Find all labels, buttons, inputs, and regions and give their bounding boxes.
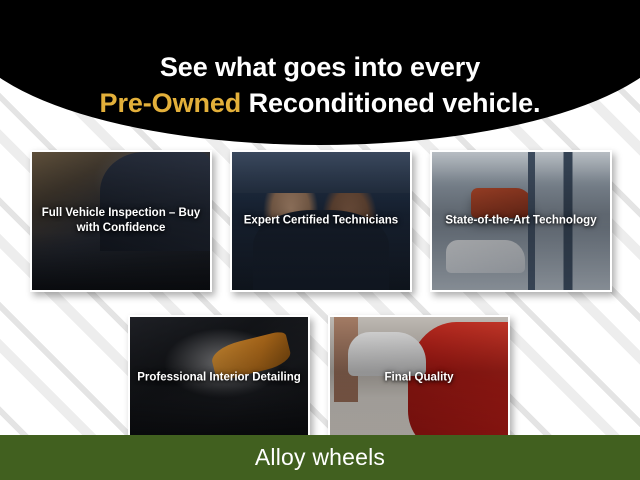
feature-card-label: Final Quality xyxy=(330,370,508,385)
feature-card-label: State-of-the-Art Technology xyxy=(432,213,610,228)
headline-line-2-rest: Reconditioned vehicle. xyxy=(241,88,540,118)
header-text-block: See what goes into every Pre-Owned Recon… xyxy=(0,50,640,121)
headline-line-1: See what goes into every xyxy=(2,50,639,85)
footer-caption-bar: Alloy wheels xyxy=(0,435,640,480)
feature-card-professional-interior-detailing[interactable]: Professional Interior Detailing xyxy=(128,315,310,441)
footer-caption-text: Alloy wheels xyxy=(255,444,385,471)
vehicle-reconditioning-slide: See what goes into every Pre-Owned Recon… xyxy=(0,0,640,480)
feature-card-full-vehicle-inspection[interactable]: Full Vehicle Inspection – Buy with Confi… xyxy=(30,150,212,292)
headline-highlight-pre-owned: Pre-Owned xyxy=(100,88,242,118)
feature-card-final-quality[interactable]: Final Quality xyxy=(328,315,510,441)
feature-card-expert-certified-technicians[interactable]: Expert Certified Technicians xyxy=(230,150,412,292)
feature-card-state-of-the-art-technology[interactable]: State-of-the-Art Technology xyxy=(430,150,612,292)
feature-card-label: Full Vehicle Inspection – Buy with Confi… xyxy=(32,206,210,236)
feature-card-label: Professional Interior Detailing xyxy=(130,370,308,385)
feature-card-label: Expert Certified Technicians xyxy=(232,213,410,228)
headline-line-2: Pre-Owned Reconditioned vehicle. xyxy=(2,86,639,121)
